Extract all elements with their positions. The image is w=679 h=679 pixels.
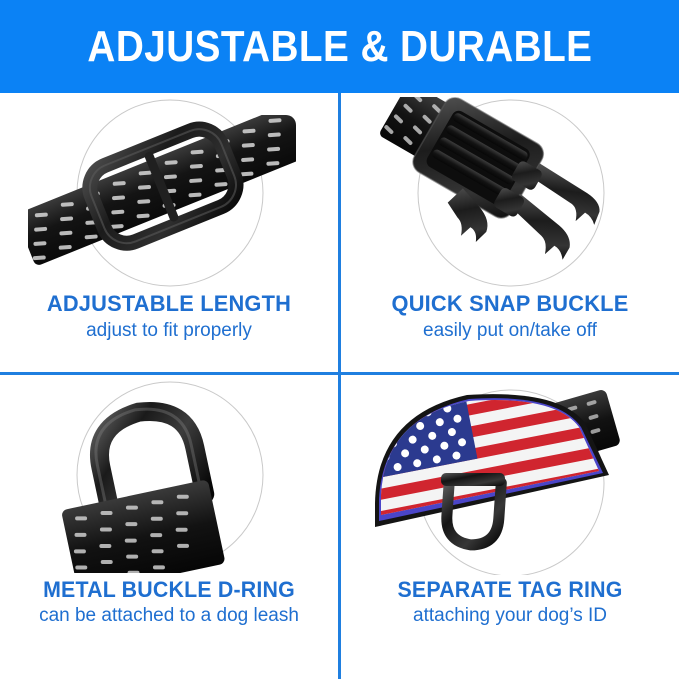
panel-subtitle: easily put on/take off [341,320,679,343]
panel-title: ADJUSTABLE LENGTH [5,291,333,317]
feature-panel-separate-tag-ring: SEPARATE TAG RING attaching your dog’s I… [341,375,679,654]
feature-panel-adjustable-length: ADJUSTABLE LENGTH adjust to fit properly [0,93,338,372]
feature-panel-metal-buckle-d-ring: METAL BUCKLE D-RING can be attached to a… [0,375,338,654]
header-banner: ADJUSTABLE & DURABLE [0,0,679,93]
feature-panel-quick-snap-buckle: QUICK SNAP BUCKLE easily put on/take off [341,93,679,372]
webbing-strap-with-slider-buckle-photo [0,93,338,289]
caption-block: METAL BUCKLE D-RING can be attached to a… [0,577,338,628]
caption-block: SEPARATE TAG RING attaching your dog’s I… [341,577,679,628]
panel-title: SEPARATE TAG RING [346,577,674,602]
infographic-page: ADJUSTABLE & DURABLE [0,0,679,679]
panel-subtitle: attaching your dog’s ID [341,605,679,628]
side-release-buckle-photo [341,93,679,289]
panel-title: QUICK SNAP BUCKLE [346,291,674,317]
d-ring-on-webbing-photo [0,375,338,575]
panel-subtitle: adjust to fit properly [0,320,338,343]
panel-subtitle: can be attached to a dog leash [0,605,338,628]
panel-title: METAL BUCKLE D-RING [5,577,333,602]
page-title: ADJUSTABLE & DURABLE [87,25,592,69]
us-flag-patch-with-tag-ring-photo [341,375,679,575]
feature-grid: ADJUSTABLE LENGTH adjust to fit properly [0,93,679,679]
caption-block: QUICK SNAP BUCKLE easily put on/take off [341,291,679,343]
caption-block: ADJUSTABLE LENGTH adjust to fit properly [0,291,338,343]
